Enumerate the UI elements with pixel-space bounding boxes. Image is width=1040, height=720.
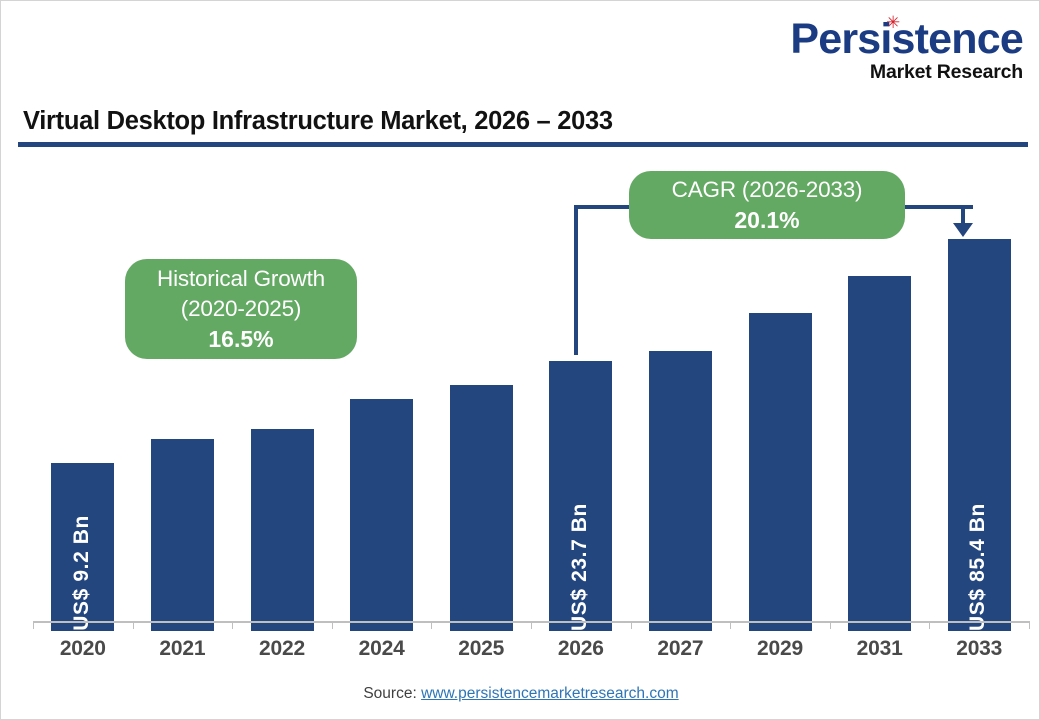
historical-growth-callout: Historical Growth (2020-2025) 16.5% <box>125 259 357 359</box>
x-axis-tick <box>531 621 532 629</box>
x-axis-label-2026: 2026 <box>531 637 631 661</box>
x-axis-tick <box>1029 621 1030 629</box>
chart-page: Persistence ✳ Market Research Virtual De… <box>0 0 1040 720</box>
x-axis-label-2022: 2022 <box>232 637 332 661</box>
bar-2024 <box>350 399 413 631</box>
bar-2022 <box>251 429 314 631</box>
cagr-line1: CAGR (2026-2033) <box>672 175 863 205</box>
x-axis-label-2020: 2020 <box>33 637 133 661</box>
bar-2029 <box>749 313 812 631</box>
bar-value-label-2033: US$ 85.4 Bn <box>966 503 990 631</box>
cagr-callout: CAGR (2026-2033) 20.1% <box>629 171 905 239</box>
x-axis-tick <box>830 621 831 629</box>
x-axis-label-2024: 2024 <box>332 637 432 661</box>
logo-tagline: Market Research <box>777 61 1023 83</box>
cagr-arrow-icon <box>953 223 973 237</box>
title-underline <box>18 142 1028 147</box>
bar-2031 <box>848 276 911 631</box>
source-url-link[interactable]: www.persistencemarketresearch.com <box>421 685 679 702</box>
x-axis-labels: 2020202120222024202520262027202920312033 <box>33 637 1029 671</box>
x-axis-label-2025: 2025 <box>431 637 531 661</box>
page-title: Virtual Desktop Infrastructure Market, 2… <box>23 107 613 136</box>
x-axis-tick <box>431 621 432 629</box>
bar-2027 <box>649 351 712 631</box>
bar-2021 <box>151 439 214 631</box>
bar-value-label-2020: US$ 9.2 Bn <box>70 515 94 631</box>
x-axis-label-2021: 2021 <box>133 637 233 661</box>
source-line: Source: www.persistencemarketresearch.co… <box>1 685 1040 703</box>
bar-2020: US$ 9.2 Bn <box>51 463 114 631</box>
source-prefix: Source: <box>363 685 421 702</box>
x-axis-tick <box>332 621 333 629</box>
x-axis-label-2027: 2027 <box>631 637 731 661</box>
bar-2033: US$ 85.4 Bn <box>948 239 1011 631</box>
x-axis-tick <box>33 621 34 629</box>
historical-growth-percent: 16.5% <box>208 324 273 355</box>
cagr-connector-vertical-start <box>574 205 578 355</box>
x-axis-tick <box>631 621 632 629</box>
x-axis-label-2031: 2031 <box>830 637 930 661</box>
logo-star-icon: ✳ <box>886 16 899 29</box>
x-axis-tick <box>730 621 731 629</box>
x-axis-tick <box>232 621 233 629</box>
x-axis-tick <box>929 621 930 629</box>
bar-2025 <box>450 385 513 631</box>
x-axis-label-2029: 2029 <box>730 637 830 661</box>
historical-growth-line1: Historical Growth <box>157 264 325 294</box>
brand-logo: Persistence ✳ Market Research <box>777 15 1023 85</box>
cagr-percent: 20.1% <box>734 205 799 236</box>
bar-value-label-2026: US$ 23.7 Bn <box>568 503 592 631</box>
logo-wordmark: Persistence <box>777 15 1023 63</box>
x-axis-tick <box>133 621 134 629</box>
historical-growth-line2: (2020-2025) <box>181 294 301 324</box>
bar-2026: US$ 23.7 Bn <box>549 361 612 631</box>
x-axis-label-2033: 2033 <box>929 637 1029 661</box>
